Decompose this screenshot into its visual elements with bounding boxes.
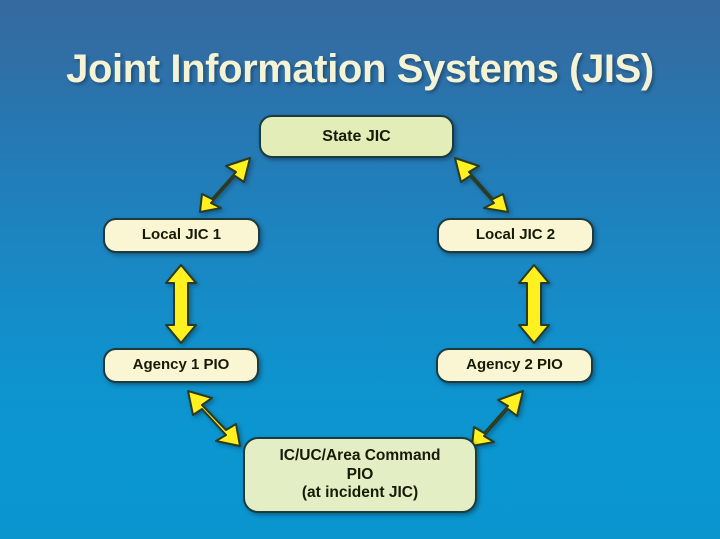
page-title: Joint Information Systems (JIS) — [0, 47, 720, 92]
node-ic-uc-pio-line-1: IC/UC/Area Command — [279, 447, 440, 464]
node-ic-uc-pio-line-2: PIO — [347, 466, 374, 483]
connector-ic-uc-pio-to-agency-2-pio — [470, 388, 528, 450]
connector-agency-1-pio-to-ic-uc-pio — [186, 388, 244, 450]
node-agency-1-pio-label: Agency 1 PIO — [105, 356, 257, 374]
node-ic-uc-area-command-pio[interactable]: IC/UC/Area Command PIO (at incident JIC) — [243, 437, 477, 513]
node-local-jic-1[interactable]: Local JIC 1 — [103, 218, 260, 253]
connector-state-jic-to-local-jic-2 — [452, 154, 512, 216]
node-local-jic-2[interactable]: Local JIC 2 — [437, 218, 594, 253]
node-state-jic[interactable]: State JIC — [259, 115, 454, 158]
node-state-jic-label: State JIC — [261, 127, 452, 147]
node-local-jic-2-label: Local JIC 2 — [439, 226, 592, 244]
node-agency-1-pio[interactable]: Agency 1 PIO — [103, 348, 259, 383]
connector-local-jic-1-to-agency-1-pio — [165, 263, 197, 345]
connector-local-jic-1-to-state-jic — [196, 154, 256, 216]
node-agency-2-pio-label: Agency 2 PIO — [438, 356, 591, 374]
node-agency-2-pio[interactable]: Agency 2 PIO — [436, 348, 593, 383]
node-ic-uc-area-command-pio-lines: IC/UC/Area Command PIO (at incident JIC) — [245, 447, 475, 504]
node-ic-uc-pio-line-3: (at incident JIC) — [302, 484, 418, 501]
connector-local-jic-2-to-agency-2-pio — [518, 263, 550, 345]
node-local-jic-1-label: Local JIC 1 — [105, 226, 258, 244]
slide-canvas: Joint Information Systems (JIS) — [0, 0, 720, 539]
